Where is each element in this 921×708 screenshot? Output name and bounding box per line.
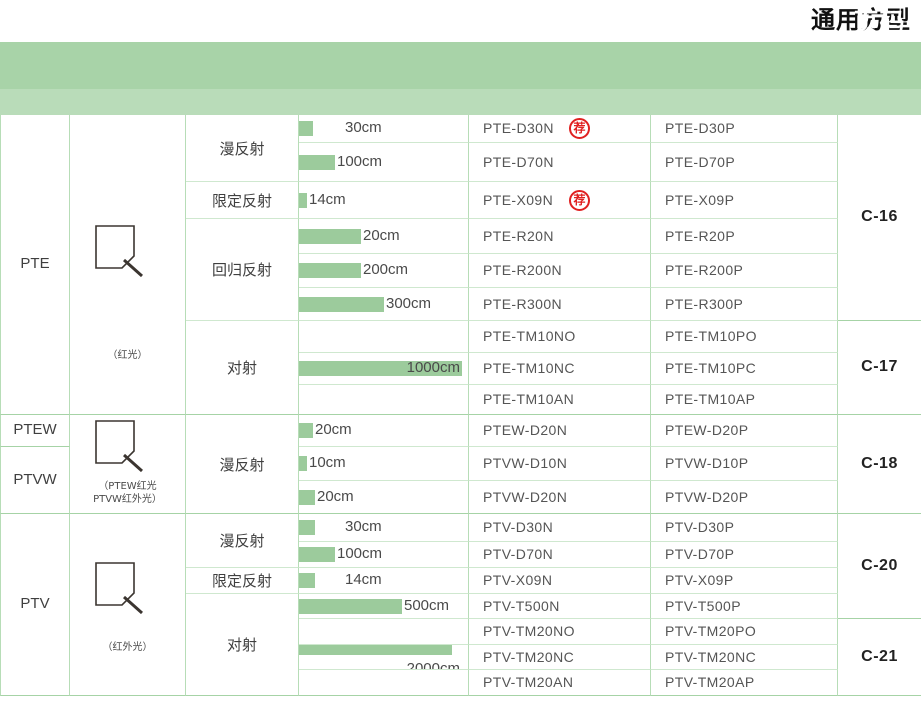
npn-model-label: PTV-D30N bbox=[483, 519, 553, 535]
npn-model-label: PTV-X09N bbox=[483, 572, 552, 588]
pnp-model-cell-13: PTV-D70P bbox=[651, 542, 838, 568]
method-label: 漫反射 bbox=[186, 454, 298, 475]
npn-model-label: PTV-D70N bbox=[483, 546, 553, 562]
npn-model-label: PTE-D70N bbox=[483, 154, 554, 170]
pnp-model-cell-0: PTE-D30P bbox=[651, 115, 838, 143]
pnp-model-label: PTE-TM10PC bbox=[665, 360, 756, 376]
npn-model-label: PTE-X09N bbox=[483, 192, 553, 208]
table-subheader-band bbox=[0, 89, 921, 115]
header-detection-distance: 检测距离 bbox=[308, 0, 428, 47]
square-sensor-icon bbox=[90, 559, 156, 621]
series-label: PTV bbox=[1, 595, 69, 612]
distance-cell-12: 30cm bbox=[299, 514, 469, 542]
method-label: 限定反射 bbox=[186, 570, 298, 591]
header-page-number: 页码 bbox=[838, 0, 921, 47]
npn-model-cell-0: PTE-D30N荐 bbox=[469, 115, 651, 143]
pnp-model-label: PTEW-D20P bbox=[665, 422, 748, 438]
npn-model-label: PTE-D30N bbox=[483, 120, 554, 136]
method-label: 漫反射 bbox=[186, 530, 298, 551]
method-cell-1: 限定反射 bbox=[186, 182, 299, 219]
distance-cell-16 bbox=[299, 619, 469, 645]
method-cell-4: 漫反射 bbox=[186, 415, 299, 514]
distance-bar bbox=[299, 490, 315, 505]
distance-bar bbox=[299, 297, 384, 312]
distance-label: 20cm bbox=[317, 488, 354, 505]
npn-model-cell-7: PTE-TM10NC bbox=[469, 353, 651, 385]
npn-model-cell-18: PTV-TM20AN bbox=[469, 670, 651, 696]
pnp-model-cell-2: PTE-X09P bbox=[651, 182, 838, 219]
npn-model-label: PTE-R200N bbox=[483, 262, 562, 278]
series-label: PTEW bbox=[1, 421, 69, 438]
distance-label: 14cm bbox=[345, 571, 382, 588]
distance-cell-7: 1000cm bbox=[299, 353, 469, 385]
pnp-model-label: PTV-TM20NC bbox=[665, 649, 756, 665]
npn-model-cell-10: PTVW-D10N bbox=[469, 447, 651, 481]
series-cell-ptvw: PTVW bbox=[0, 447, 70, 514]
pnp-model-cell-6: PTE-TM10PO bbox=[651, 321, 838, 353]
pnp-model-cell-10: PTVW-D10P bbox=[651, 447, 838, 481]
distance-cell-17: 2000cm bbox=[299, 645, 469, 670]
method-label: 对射 bbox=[186, 634, 298, 655]
square-sensor-icon bbox=[90, 222, 156, 284]
pnp-model-label: PTV-TM20AP bbox=[665, 674, 755, 690]
distance-bar bbox=[299, 193, 307, 208]
pnp-model-label: PTE-X09P bbox=[665, 192, 734, 208]
catalog-page: 通用方型 系列 外观 检测方式 检测距离 型号 页码 NPN L.on&D.on… bbox=[0, 0, 921, 708]
series-cell-ptv: PTV bbox=[0, 514, 70, 696]
pnp-model-cell-9: PTEW-D20P bbox=[651, 415, 838, 447]
npn-model-cell-2: PTE-X09N荐 bbox=[469, 182, 651, 219]
pnp-model-label: PTVW-D20P bbox=[665, 489, 748, 505]
distance-cell-13: 100cm bbox=[299, 542, 469, 568]
subheader-npn: NPN L.on&D.on bbox=[483, 0, 576, 26]
distance-label: 1000cm bbox=[407, 359, 460, 376]
header-detection-method: 检测方式 bbox=[183, 0, 295, 47]
method-cell-7: 对射 bbox=[186, 594, 299, 696]
distance-bar bbox=[299, 456, 307, 471]
appearance-cell-ptew-ptvw: （PTEW红光 PTVW红外光） bbox=[70, 415, 186, 514]
header-series: 系列 bbox=[8, 0, 70, 47]
distance-label: 100cm bbox=[337, 153, 382, 170]
pnp-model-cell-5: PTE-R300P bbox=[651, 288, 838, 321]
page-code-cell-3: C-20 bbox=[838, 514, 921, 619]
npn-model-cell-1: PTE-D70N bbox=[469, 143, 651, 182]
npn-model-cell-5: PTE-R300N bbox=[469, 288, 651, 321]
pnp-model-cell-16: PTV-TM20PO bbox=[651, 619, 838, 645]
distance-label: 30cm bbox=[345, 518, 382, 535]
page-code-cell-0: C-16 bbox=[838, 115, 921, 321]
distance-label: 20cm bbox=[315, 421, 352, 438]
distance-bar bbox=[299, 155, 335, 170]
npn-model-cell-12: PTV-D30N bbox=[469, 514, 651, 542]
pnp-model-cell-7: PTE-TM10PC bbox=[651, 353, 838, 385]
npn-model-cell-13: PTV-D70N bbox=[469, 542, 651, 568]
page-code-label: C-16 bbox=[838, 208, 921, 226]
pnp-model-cell-12: PTV-D30P bbox=[651, 514, 838, 542]
npn-model-cell-9: PTEW-D20N bbox=[469, 415, 651, 447]
distance-label: 100cm bbox=[337, 545, 382, 562]
distance-bar bbox=[299, 229, 361, 244]
npn-model-label: PTE-R300N bbox=[483, 296, 562, 312]
distance-cell-10: 10cm bbox=[299, 447, 469, 481]
pnp-model-label: PTE-D30P bbox=[665, 120, 735, 136]
appearance-cell-ptv: （红外光） bbox=[70, 514, 186, 696]
distance-bar bbox=[299, 547, 335, 562]
npn-model-cell-4: PTE-R200N bbox=[469, 254, 651, 288]
pnp-model-cell-11: PTVW-D20P bbox=[651, 481, 838, 514]
appearance-note: （红外光） bbox=[70, 641, 185, 654]
page-code-label: C-21 bbox=[838, 648, 921, 666]
distance-label: 200cm bbox=[363, 261, 408, 278]
npn-model-label: PTVW-D10N bbox=[483, 455, 567, 471]
appearance-cell-pte: （红光） bbox=[70, 115, 186, 415]
distance-cell-6 bbox=[299, 321, 469, 353]
method-cell-6: 限定反射 bbox=[186, 568, 299, 594]
npn-model-cell-11: PTVW-D20N bbox=[469, 481, 651, 514]
series-label: PTE bbox=[1, 255, 69, 272]
series-cell-pte: PTE bbox=[0, 115, 70, 415]
method-cell-5: 漫反射 bbox=[186, 514, 299, 568]
recommended-stamp-icon: 荐 bbox=[569, 190, 590, 211]
distance-bar bbox=[299, 645, 452, 655]
npn-model-label: PTE-R20N bbox=[483, 228, 554, 244]
distance-cell-2: 14cm bbox=[299, 182, 469, 219]
npn-model-label: PTE-TM10NC bbox=[483, 360, 575, 376]
distance-label: 14cm bbox=[309, 191, 346, 208]
table-header-band bbox=[0, 42, 921, 89]
distance-cell-4: 200cm bbox=[299, 254, 469, 288]
page-code-label: C-17 bbox=[838, 358, 921, 376]
distance-label: 300cm bbox=[386, 295, 431, 312]
square-sensor-icon bbox=[90, 417, 156, 479]
pnp-model-label: PTE-TM10PO bbox=[665, 328, 757, 344]
distance-label: 20cm bbox=[363, 227, 400, 244]
npn-model-label: PTV-TM20NO bbox=[483, 623, 575, 639]
pnp-model-cell-17: PTV-TM20NC bbox=[651, 645, 838, 670]
pnp-model-label: PTV-D30P bbox=[665, 519, 734, 535]
pnp-model-cell-14: PTV-X09P bbox=[651, 568, 838, 594]
npn-model-cell-3: PTE-R20N bbox=[469, 219, 651, 254]
npn-model-cell-6: PTE-TM10NO bbox=[469, 321, 651, 353]
pnp-model-label: PTE-R300P bbox=[665, 296, 743, 312]
distance-label: 10cm bbox=[309, 454, 346, 471]
page-code-label: C-20 bbox=[838, 557, 921, 575]
distance-bar bbox=[299, 423, 313, 438]
distance-cell-8 bbox=[299, 385, 469, 415]
npn-model-label: PTV-TM20NC bbox=[483, 649, 574, 665]
pnp-model-cell-18: PTV-TM20AP bbox=[651, 670, 838, 696]
header-appearance: 外观 bbox=[93, 0, 171, 47]
distance-label: 2000cm bbox=[407, 660, 460, 671]
appearance-note: （PTEW红光 PTVW红外光） bbox=[70, 480, 185, 506]
npn-model-cell-8: PTE-TM10AN bbox=[469, 385, 651, 415]
pnp-model-label: PTE-R20P bbox=[665, 228, 735, 244]
pnp-model-cell-1: PTE-D70P bbox=[651, 143, 838, 182]
pnp-model-label: PTE-TM10AP bbox=[665, 391, 755, 407]
npn-model-cell-15: PTV-T500N bbox=[469, 594, 651, 619]
distance-cell-0: 30cm bbox=[299, 115, 469, 143]
method-label: 限定反射 bbox=[186, 190, 298, 211]
npn-model-label: PTV-TM20AN bbox=[483, 674, 573, 690]
npn-model-cell-17: PTV-TM20NC bbox=[469, 645, 651, 670]
pnp-model-label: PTV-T500P bbox=[665, 598, 741, 614]
distance-cell-14: 14cm bbox=[299, 568, 469, 594]
pnp-model-label: PTE-R200P bbox=[665, 262, 743, 278]
series-label: PTVW bbox=[1, 471, 69, 488]
pnp-model-cell-4: PTE-R200P bbox=[651, 254, 838, 288]
page-code-cell-4: C-21 bbox=[838, 619, 921, 696]
distance-cell-3: 20cm bbox=[299, 219, 469, 254]
pnp-model-cell-15: PTV-T500P bbox=[651, 594, 838, 619]
recommended-stamp-icon: 荐 bbox=[569, 118, 590, 139]
pnp-model-label: PTE-D70P bbox=[665, 154, 735, 170]
pnp-model-cell-8: PTE-TM10AP bbox=[651, 385, 838, 415]
npn-model-label: PTE-TM10AN bbox=[483, 391, 574, 407]
pnp-model-label: PTV-D70P bbox=[665, 546, 734, 562]
distance-bar bbox=[299, 263, 361, 278]
npn-model-label: PTE-TM10NO bbox=[483, 328, 576, 344]
method-label: 回归反射 bbox=[186, 259, 298, 280]
distance-bar bbox=[299, 520, 315, 535]
method-cell-0: 漫反射 bbox=[186, 115, 299, 182]
page-code-cell-1: C-17 bbox=[838, 321, 921, 415]
npn-model-label: PTV-T500N bbox=[483, 598, 560, 614]
pnp-model-label: PTVW-D10P bbox=[665, 455, 748, 471]
distance-label: 30cm bbox=[345, 119, 382, 136]
npn-model-label: PTEW-D20N bbox=[483, 422, 567, 438]
method-label: 漫反射 bbox=[186, 138, 298, 159]
subheader-pnp: PNP L.on&D.on bbox=[684, 0, 776, 26]
distance-bar bbox=[299, 599, 402, 614]
page-code-label: C-18 bbox=[838, 455, 921, 473]
pnp-model-label: PTV-X09P bbox=[665, 572, 734, 588]
page-code-cell-2: C-18 bbox=[838, 415, 921, 514]
appearance-note: （红光） bbox=[70, 349, 185, 362]
distance-cell-15: 500cm bbox=[299, 594, 469, 619]
method-cell-2: 回归反射 bbox=[186, 219, 299, 321]
npn-model-cell-16: PTV-TM20NO bbox=[469, 619, 651, 645]
distance-label: 500cm bbox=[404, 597, 449, 614]
distance-cell-1: 100cm bbox=[299, 143, 469, 182]
distance-cell-18 bbox=[299, 670, 469, 696]
npn-model-cell-14: PTV-X09N bbox=[469, 568, 651, 594]
pnp-model-cell-3: PTE-R20P bbox=[651, 219, 838, 254]
distance-cell-11: 20cm bbox=[299, 481, 469, 514]
series-cell-ptew: PTEW bbox=[0, 415, 70, 447]
pnp-model-label: PTV-TM20PO bbox=[665, 623, 756, 639]
method-label: 对射 bbox=[186, 357, 298, 378]
method-cell-3: 对射 bbox=[186, 321, 299, 415]
distance-cell-9: 20cm bbox=[299, 415, 469, 447]
distance-bar bbox=[299, 573, 315, 588]
distance-bar bbox=[299, 121, 313, 136]
npn-model-label: PTVW-D20N bbox=[483, 489, 567, 505]
distance-cell-5: 300cm bbox=[299, 288, 469, 321]
